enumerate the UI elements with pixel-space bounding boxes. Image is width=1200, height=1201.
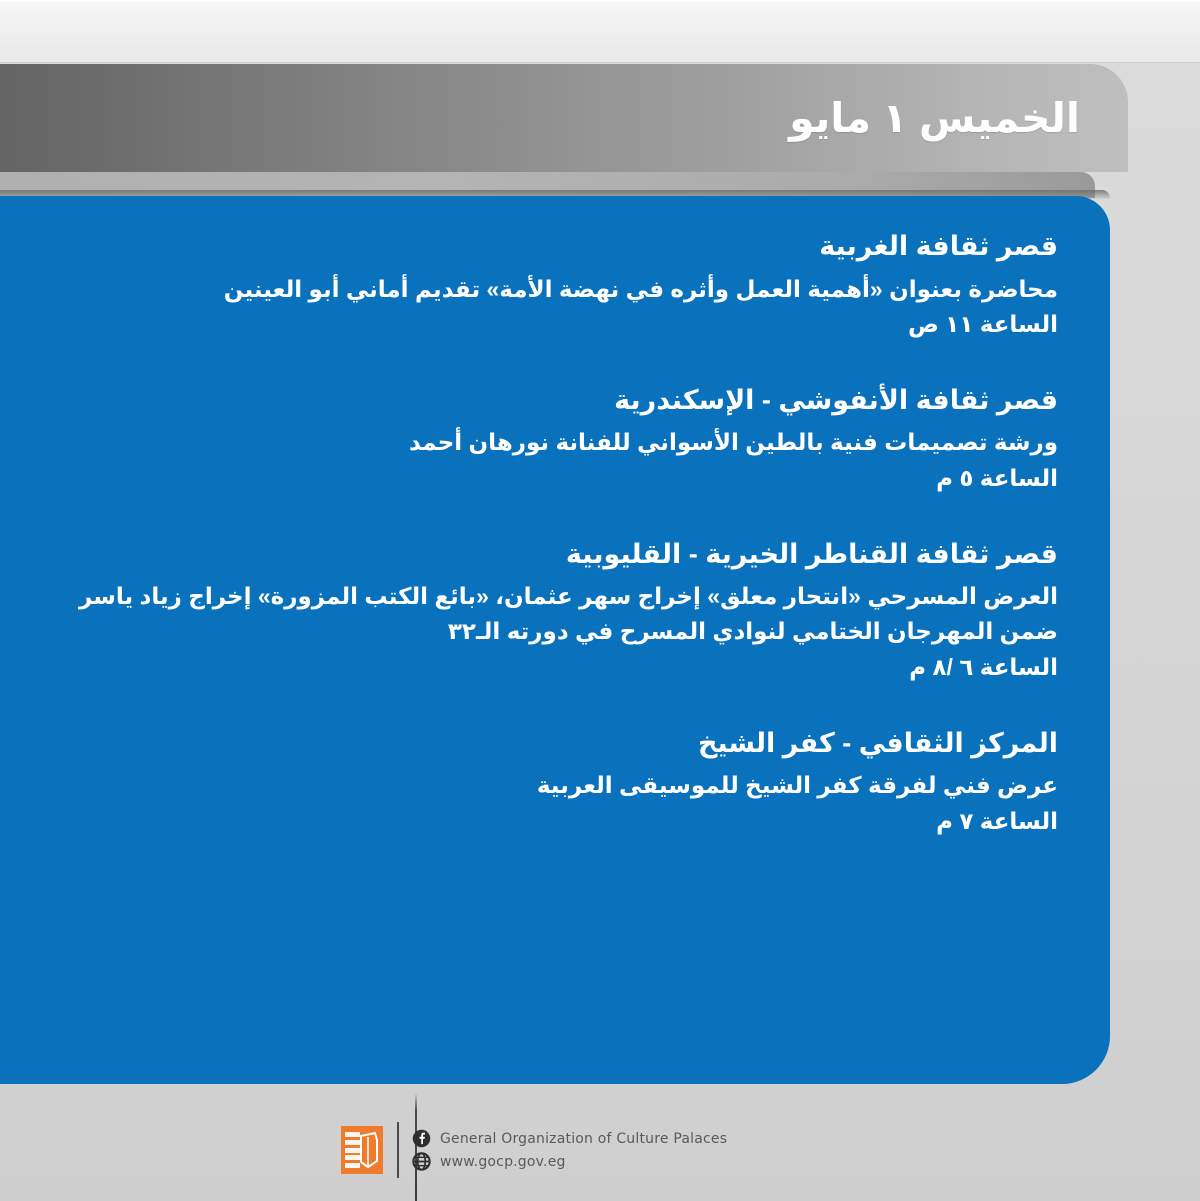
footer-website-row[interactable]: www.gocp.gov.eg	[412, 1152, 727, 1171]
event-time: الساعة ٧ م	[40, 804, 1058, 839]
event-item: المركز الثقافي - كفر الشيخ عرض فني لفرقة…	[40, 723, 1058, 839]
event-time: الساعة ٥ م	[40, 461, 1058, 496]
event-venue: المركز الثقافي - كفر الشيخ	[40, 723, 1058, 764]
footer-links: General Organization of Culture Palaces …	[412, 1129, 727, 1171]
logo-book-shape	[358, 1131, 380, 1169]
event-description: ورشة تصميمات فنية بالطين الأسواني للفنان…	[40, 425, 1058, 460]
event-item: قصر ثقافة الغربية محاضرة بعنوان «أهمية ا…	[40, 226, 1058, 342]
event-description: العرض المسرحي «انتحار معلق» إخراج سهر عث…	[40, 579, 1058, 614]
organization-logo-icon	[341, 1126, 383, 1174]
event-item: قصر ثقافة الأنفوشي - الإسكندرية ورشة تصم…	[40, 380, 1058, 496]
facebook-icon	[412, 1129, 431, 1148]
event-description: عرض فني لفرقة كفر الشيخ للموسيقى العربية	[40, 768, 1058, 803]
footer-separator	[397, 1122, 399, 1178]
top-white-strip	[0, 0, 1200, 63]
footer-facebook-row[interactable]: General Organization of Culture Palaces	[412, 1129, 727, 1148]
event-time: الساعة ١١ ص	[40, 307, 1058, 342]
event-venue: قصر ثقافة القناطر الخيرية - القليوبية	[40, 534, 1058, 575]
header-bar: الخميس ١ مايو	[0, 64, 1128, 172]
footer-content: General Organization of Culture Palaces …	[341, 1122, 727, 1178]
event-venue: قصر ثقافة الأنفوشي - الإسكندرية	[40, 380, 1058, 421]
website-label: www.gocp.gov.eg	[440, 1154, 566, 1170]
poster-canvas: الخميس ١ مايو قصر ثقافة الغربية محاضرة ب…	[0, 0, 1200, 1201]
event-description-secondary: ضمن المهرجان الختامي لنوادي المسرح في دو…	[40, 614, 1058, 649]
schedule-panel: قصر ثقافة الغربية محاضرة بعنوان «أهمية ا…	[0, 196, 1110, 1084]
event-description: محاضرة بعنوان «أهمية العمل وأثره في نهضة…	[40, 272, 1058, 307]
events-list: قصر ثقافة الغربية محاضرة بعنوان «أهمية ا…	[40, 226, 1058, 839]
facebook-page-label: General Organization of Culture Palaces	[440, 1131, 727, 1147]
event-time: الساعة ٦ /٨ م	[40, 650, 1058, 685]
globe-icon	[412, 1152, 431, 1171]
page-title: الخميس ١ مايو	[789, 98, 1128, 139]
event-venue: قصر ثقافة الغربية	[40, 226, 1058, 267]
event-item: قصر ثقافة القناطر الخيرية - القليوبية ال…	[40, 534, 1058, 685]
